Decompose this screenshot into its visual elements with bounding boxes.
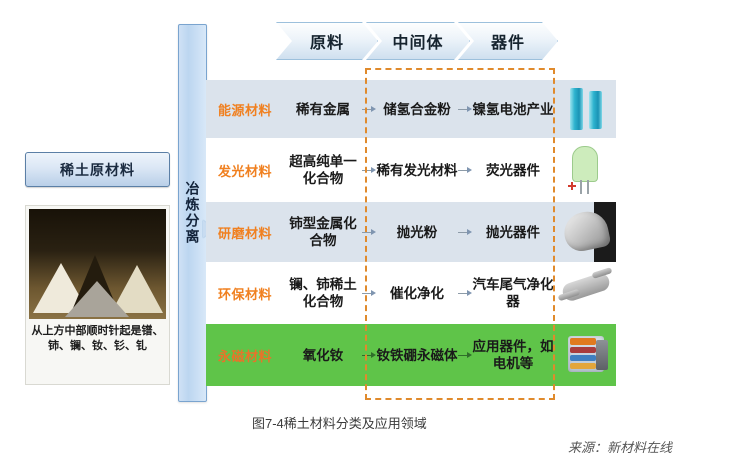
- material-matrix: 能源材料 稀有金属 储氢合金粉 镍氢电池产业 发光材料 超高纯单一化合物 稀有发…: [206, 80, 556, 386]
- arrow-right-icon: [362, 350, 376, 360]
- row-device: 抛光器件: [472, 224, 554, 241]
- arrow-right-icon: [362, 227, 376, 237]
- motor-coil-icon: [570, 355, 596, 361]
- row-raw-material: 超高纯单一化合物: [284, 153, 362, 187]
- arrow-right-icon: [458, 227, 472, 237]
- arrow-right-icon: [458, 350, 472, 360]
- row-device: 荧光器件: [472, 162, 554, 179]
- photo-caption: 从上方中部顺时针起是镨、铈、镧、钕、钐、钆: [30, 323, 165, 353]
- row-device: 应用器件，如电机等: [472, 338, 554, 372]
- stage-label-intermediate: 中间体: [392, 29, 443, 53]
- row-intermediate: 稀有发光材料: [376, 162, 458, 179]
- led-lead-icon: [587, 180, 589, 194]
- table-row: 发光材料 超高纯单一化合物 稀有发光材料 荧光器件: [206, 138, 556, 202]
- figure-caption: 图7-4稀土材料分类及应用领域: [252, 413, 427, 432]
- row-intermediate: 储氢合金粉: [376, 101, 458, 118]
- table-row: 能源材料 稀有金属 储氢合金粉 镍氢电池产业: [206, 80, 556, 138]
- motor-core-icon: [596, 340, 608, 370]
- figure-source: 来源：新材料在线: [568, 437, 672, 456]
- arrow-right-icon: [362, 104, 376, 114]
- stage-chevron-intermediate: 中间体: [366, 22, 470, 60]
- led-diagram: [556, 138, 616, 202]
- row-raw-material: 镧、铈稀土化合物: [284, 276, 362, 310]
- battery-cell-icon: [570, 88, 583, 130]
- arrow-right-icon: [458, 165, 472, 175]
- row-category: 环保材料: [206, 284, 284, 303]
- row-raw-material: 稀有金属: [284, 101, 362, 118]
- row-intermediate: 催化净化: [376, 285, 458, 302]
- arrow-right-icon: [362, 288, 376, 298]
- product-image-column: [556, 80, 616, 386]
- arrow-right-icon: [458, 288, 472, 298]
- smelting-separation-bar: 冶炼分离: [178, 24, 207, 402]
- motor-coil-icon: [570, 347, 596, 353]
- row-raw-material: 氧化钕: [284, 347, 362, 364]
- polishing-device-photo: [556, 202, 616, 262]
- catalytic-converter-diagram: [556, 262, 616, 324]
- smelting-separation-label: 冶炼分离: [179, 25, 206, 401]
- stage-label-raw: 原料: [310, 29, 344, 53]
- electric-motor-photo: [556, 324, 616, 386]
- led-lead-icon: [580, 180, 582, 194]
- stage-label-device: 器件: [491, 29, 525, 53]
- led-bulb-icon: [572, 146, 598, 182]
- arrow-right-icon: [362, 165, 376, 175]
- row-raw-material: 铈型金属化合物: [284, 215, 362, 249]
- row-device: 汽车尾气净化器: [472, 276, 554, 310]
- rare-earth-photo-card: 从上方中部顺时针起是镨、铈、镧、钕、钐、钆: [25, 205, 170, 385]
- table-row: 研磨材料 铈型金属化合物 抛光粉 抛光器件: [206, 202, 556, 262]
- motor-coil-icon: [570, 338, 596, 345]
- row-category: 永磁材料: [206, 346, 284, 365]
- battery-cell-icon: [589, 91, 602, 129]
- nickel-hydrogen-battery-photo: [556, 80, 616, 138]
- row-category: 发光材料: [206, 161, 284, 180]
- motor-coil-icon: [570, 363, 596, 369]
- row-intermediate: 抛光粉: [376, 224, 458, 241]
- row-category: 研磨材料: [206, 223, 284, 242]
- figure-canvas: 稀土原材料 从上方中部顺时针起是镨、铈、镧、钕、钐、钆 冶炼分离 原料 中间体 …: [0, 0, 743, 469]
- rare-earth-oxide-powders-photo: [29, 209, 166, 319]
- row-device: 镍氢电池产业: [472, 101, 554, 118]
- table-row: 永磁材料 氧化钕 钕铁硼永磁体 应用器件，如电机等: [206, 324, 556, 386]
- raw-material-label: 稀土原材料: [60, 160, 135, 180]
- raw-material-box: 稀土原材料: [25, 152, 170, 187]
- powder-pile-4: [65, 281, 129, 317]
- stage-chevron-device: 器件: [458, 22, 558, 60]
- arrow-right-icon: [458, 104, 472, 114]
- plus-icon: [568, 182, 576, 190]
- table-row: 环保材料 镧、铈稀土化合物 催化净化 汽车尾气净化器: [206, 262, 556, 324]
- row-intermediate: 钕铁硼永磁体: [376, 347, 458, 364]
- stage-chevron-raw: 原料: [276, 22, 378, 60]
- row-category: 能源材料: [206, 100, 284, 119]
